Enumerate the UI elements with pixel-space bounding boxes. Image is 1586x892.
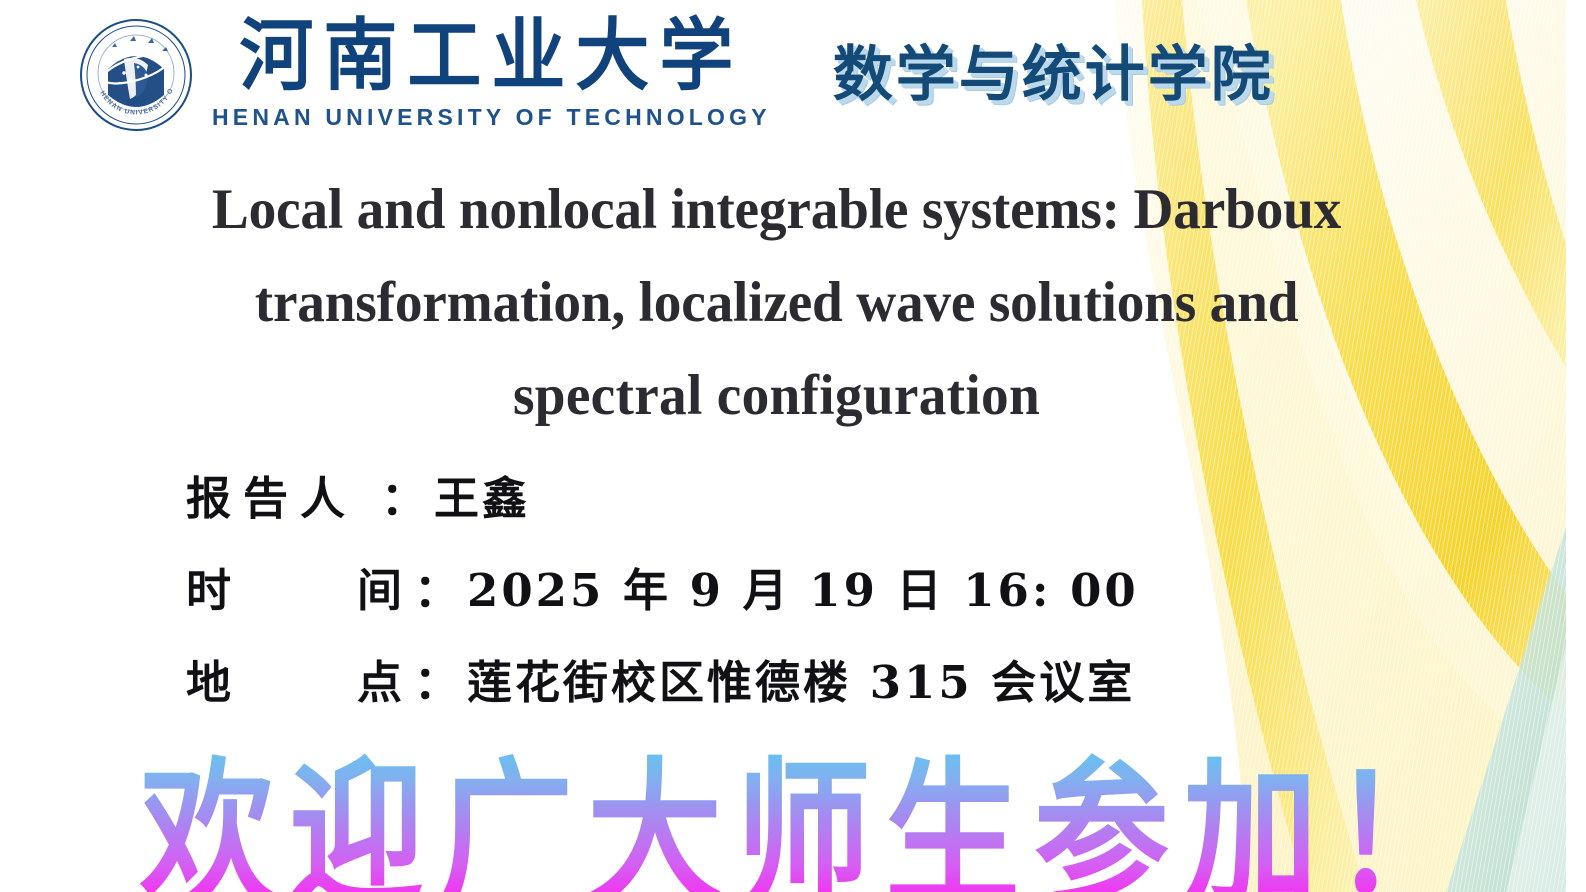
welcome-banner: 欢迎广大师生参加！ — [140, 748, 1460, 892]
university-name-cn: 河南工业大学 — [239, 17, 743, 95]
speaker-value: 王鑫 — [434, 462, 530, 527]
time-colon: ： — [414, 554, 459, 619]
university-name-en: HENAN UNIVERSITY OF TECHNOLOGY — [212, 104, 771, 131]
university-crest-icon: 1956 HENAN UNIVERSITY OF TECHNOLOGY — [78, 17, 194, 133]
location-colon: ： — [414, 646, 459, 711]
title-line-1: Local and nonlocal integrable systems: D… — [124, 163, 1429, 256]
crest-founded-year: 1956 — [125, 97, 146, 108]
location-value: 莲花街校区惟德楼 315 会议室 — [467, 646, 1135, 711]
title-line-2: transformation, localized wave solutions… — [124, 256, 1429, 349]
location-label: 地 点 — [186, 646, 414, 711]
department-name: 数学与统计学院 — [833, 45, 1274, 105]
seminar-poster: 1956 HENAN UNIVERSITY OF TECHNOLOGY 河南工业… — [0, 0, 1586, 892]
detail-row-time: 时 间 ： 2025 年 9 月 19 日 16: 00 — [186, 554, 1186, 646]
university-wordmark: 河南工业大学 HENAN UNIVERSITY OF TECHNOLOGY — [212, 19, 771, 131]
speaker-colon: ： — [381, 462, 426, 527]
poster-header: 1956 HENAN UNIVERSITY OF TECHNOLOGY 河南工业… — [0, 0, 1300, 150]
title-line-3: spectral configuration — [124, 349, 1429, 442]
detail-row-speaker: 报告人 ： 王鑫 — [186, 462, 1186, 554]
time-value: 2025 年 9 月 19 日 16: 00 — [467, 554, 1139, 619]
detail-row-location: 地 点 ： 莲花街校区惟德楼 315 会议室 — [186, 646, 1186, 738]
time-label: 时 间 — [186, 554, 414, 619]
right-page-margin — [1566, 0, 1586, 892]
speaker-label: 报告人 — [186, 462, 381, 527]
page-title: Local and nonlocal integrable systems: D… — [124, 163, 1429, 442]
event-details: 报告人 ： 王鑫 时 间 ： 2025 年 9 月 19 日 16: 00 地 … — [186, 462, 1186, 738]
